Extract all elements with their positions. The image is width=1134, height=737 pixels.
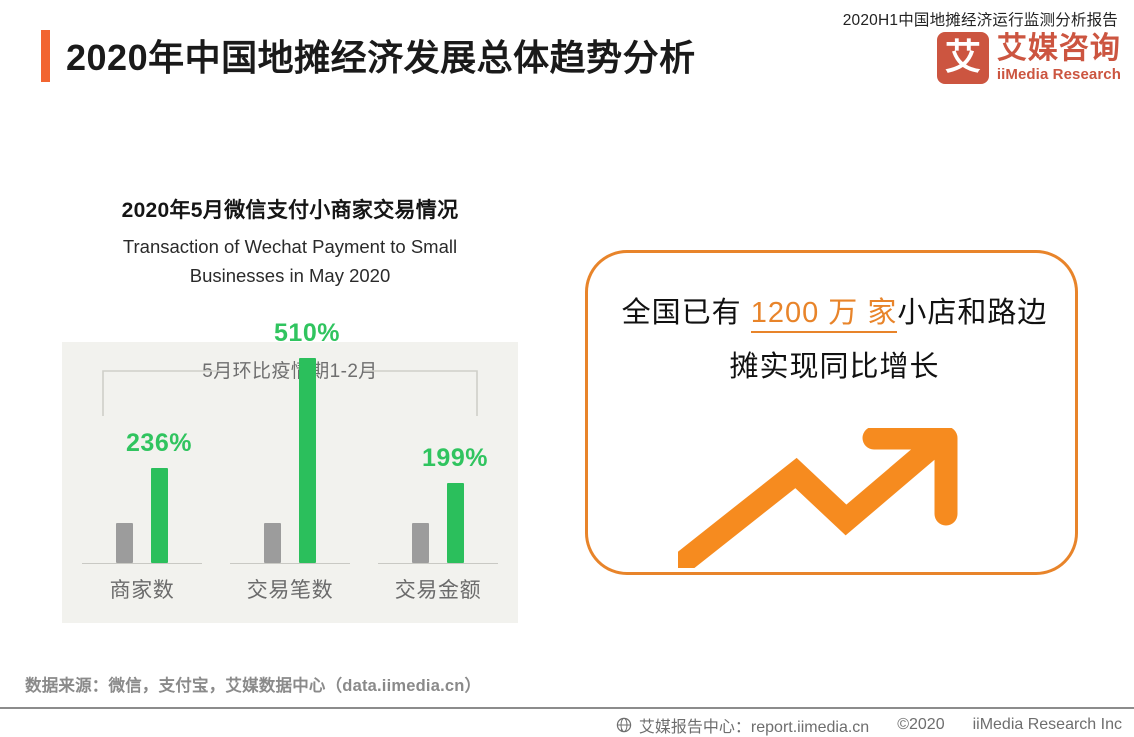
footer-report-center: 艾媒报告中心：report.iimedia.cn: [639, 713, 869, 737]
chart-plot-area: 236% 商家数 510% 交易笔数 199%: [62, 342, 518, 623]
bar-group-1: 510% 交易笔数: [214, 359, 366, 609]
chart-title-en: Transaction of Wechat Payment to Small B…: [62, 233, 518, 290]
baseline-2: [378, 563, 498, 565]
bar-baseline-0: [116, 523, 133, 563]
footer-divider: [0, 707, 1134, 709]
bar-group-2: 199% 交易金额: [362, 359, 514, 609]
logo-name-en: iiMedia Research: [997, 67, 1121, 82]
bars-0: [66, 363, 218, 563]
bar-baseline-1: [264, 523, 281, 563]
page-title: 2020年中国地摊经济发展总体趋势分析: [66, 29, 696, 81]
bars-2: [362, 363, 514, 563]
chart-heading: 2020年5月微信支付小商家交易情况 Transaction of Wechat…: [62, 194, 518, 290]
logo-mark-icon: 艾: [937, 32, 989, 84]
logo-name-cn: 艾媒咨询: [997, 34, 1121, 64]
bar-chart: 5月环比疫情期1-2月 236% 商家数 510%: [62, 342, 518, 623]
bar-baseline-2: [412, 523, 429, 563]
callout-text-before: 全国已有: [622, 297, 751, 329]
footer-company: iiMedia Research Inc: [973, 716, 1122, 734]
globe-icon: [616, 717, 632, 733]
source-note: 数据来源：微信，支付宝，艾媒数据中心（data.iimedia.cn）: [25, 672, 481, 696]
chart-title-en-line1: Transaction of Wechat Payment to Small: [62, 233, 518, 262]
bar-value-1: [299, 358, 316, 563]
slide-canvas: 2020H1中国地摊经济运行监测分析报告 2020年中国地摊经济发展总体趋势分析…: [0, 0, 1134, 737]
bars-1: [214, 363, 366, 563]
callout-highlight: 1200 万 家: [751, 297, 898, 333]
bar-group-0: 236% 商家数: [66, 359, 218, 609]
footer-copyright: ©2020: [897, 716, 944, 734]
footer-bar: 艾媒报告中心：report.iimedia.cn ©2020 iiMedia R…: [616, 713, 1122, 737]
bar-value-label-1: 510%: [274, 319, 340, 348]
callout-box: 全国已有 1200 万 家小店和路边摊实现同比增长: [585, 250, 1078, 575]
bar-value-0: [151, 468, 168, 563]
baseline-0: [82, 563, 202, 565]
report-kicker: 2020H1中国地摊经济运行监测分析报告: [843, 8, 1118, 30]
brand-logo: 艾 艾媒咨询 iiMedia Research: [937, 32, 1121, 84]
bar-category-label-2: 交易金额: [362, 574, 514, 604]
chart-title-en-line2: Businesses in May 2020: [62, 262, 518, 291]
growth-arrow-icon: [678, 428, 1038, 568]
bar-value-2: [447, 483, 464, 563]
title-accent-bar: [41, 30, 50, 82]
logo-text: 艾媒咨询 iiMedia Research: [997, 34, 1121, 82]
bar-category-label-1: 交易笔数: [214, 574, 366, 604]
bar-category-label-0: 商家数: [66, 574, 218, 604]
callout-text: 全国已有 1200 万 家小店和路边摊实现同比增长: [614, 287, 1055, 394]
chart-title-cn: 2020年5月微信支付小商家交易情况: [62, 194, 518, 224]
baseline-1: [230, 563, 350, 565]
